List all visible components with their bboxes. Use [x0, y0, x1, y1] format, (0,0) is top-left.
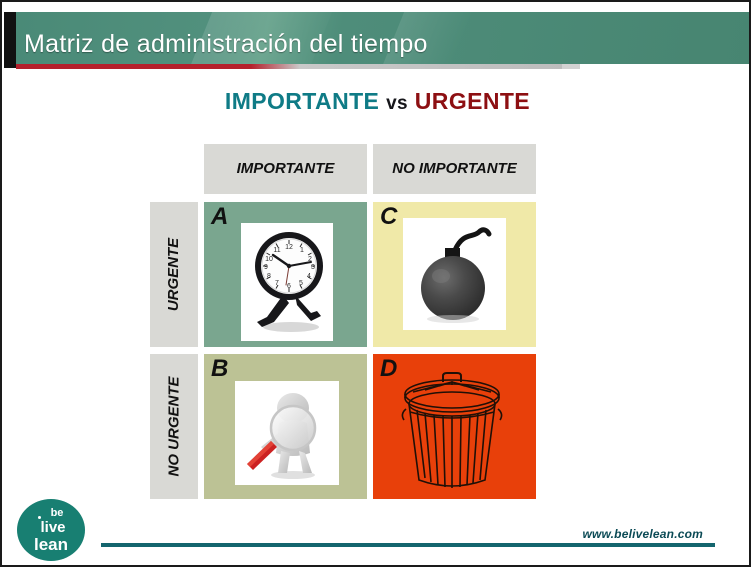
- svg-text:3: 3: [311, 264, 315, 271]
- header-rule: [16, 64, 562, 69]
- row-header-no-urgente-label: NO URGENTE: [166, 376, 183, 476]
- svg-text:7: 7: [275, 280, 279, 287]
- quadrant-a-letter: A: [211, 204, 228, 229]
- quadrant-d-letter: D: [380, 356, 397, 381]
- quadrant-c: C: [373, 202, 536, 347]
- running-clock-svg: 12 1 2 3 4 5 6 7 8 9 10 11: [241, 223, 333, 341]
- svg-text:5: 5: [299, 280, 303, 287]
- row-header-urgente: URGENTE: [150, 202, 198, 347]
- magnifying-glass-figure-svg: [235, 381, 339, 485]
- quadrant-d: D: [373, 354, 536, 499]
- row-header-urgente-label: URGENTE: [166, 238, 183, 311]
- svg-text:8: 8: [267, 273, 271, 280]
- subtitle: IMPORTANTE vs URGENTE: [2, 88, 751, 115]
- column-header-no-importante: NO IMPORTANTE: [373, 144, 536, 194]
- bomb-svg: [403, 218, 506, 330]
- footer-rule: [101, 543, 715, 547]
- svg-text:6: 6: [287, 283, 291, 290]
- row-header-no-urgente: NO URGENTE: [150, 354, 198, 499]
- brand-logo[interactable]: be live lean: [17, 499, 85, 561]
- quadrant-c-letter: C: [380, 204, 397, 229]
- page-title: Matriz de administración del tiempo: [24, 30, 428, 59]
- svg-text:12: 12: [285, 244, 293, 251]
- column-header-importante-label: IMPORTANTE: [237, 160, 335, 177]
- subtitle-important: IMPORTANTE: [225, 88, 379, 114]
- slide: Matriz de administración del tiempo IMPO…: [0, 0, 751, 567]
- logo-line-be: be: [51, 508, 64, 519]
- subtitle-vs: vs: [386, 93, 408, 114]
- footer-website-url[interactable]: www.belivelean.com: [582, 527, 703, 541]
- header-left-edge: [4, 12, 16, 68]
- magnifying-glass-figure-icon: [235, 381, 339, 485]
- bomb-icon: [403, 218, 506, 330]
- column-header-no-importante-label: NO IMPORTANTE: [392, 160, 516, 177]
- trash-can-icon: [373, 354, 536, 499]
- quadrant-b: B: [204, 354, 367, 499]
- svg-text:11: 11: [273, 247, 280, 254]
- logo-dot-icon: [38, 516, 41, 519]
- logo-line-lean: lean: [34, 536, 68, 553]
- header-rule-tail: [562, 64, 580, 69]
- quadrant-a: A: [204, 202, 367, 347]
- svg-text:9: 9: [264, 264, 268, 271]
- column-header-importante: IMPORTANTE: [204, 144, 367, 194]
- logo-line-live: live: [40, 520, 65, 535]
- running-clock-icon: 12 1 2 3 4 5 6 7 8 9 10 11: [241, 223, 333, 341]
- svg-text:4: 4: [307, 273, 311, 280]
- svg-text:10: 10: [265, 256, 273, 263]
- subtitle-urgent: URGENTE: [415, 88, 530, 114]
- svg-text:1: 1: [300, 247, 304, 254]
- quadrant-b-letter: B: [211, 356, 228, 381]
